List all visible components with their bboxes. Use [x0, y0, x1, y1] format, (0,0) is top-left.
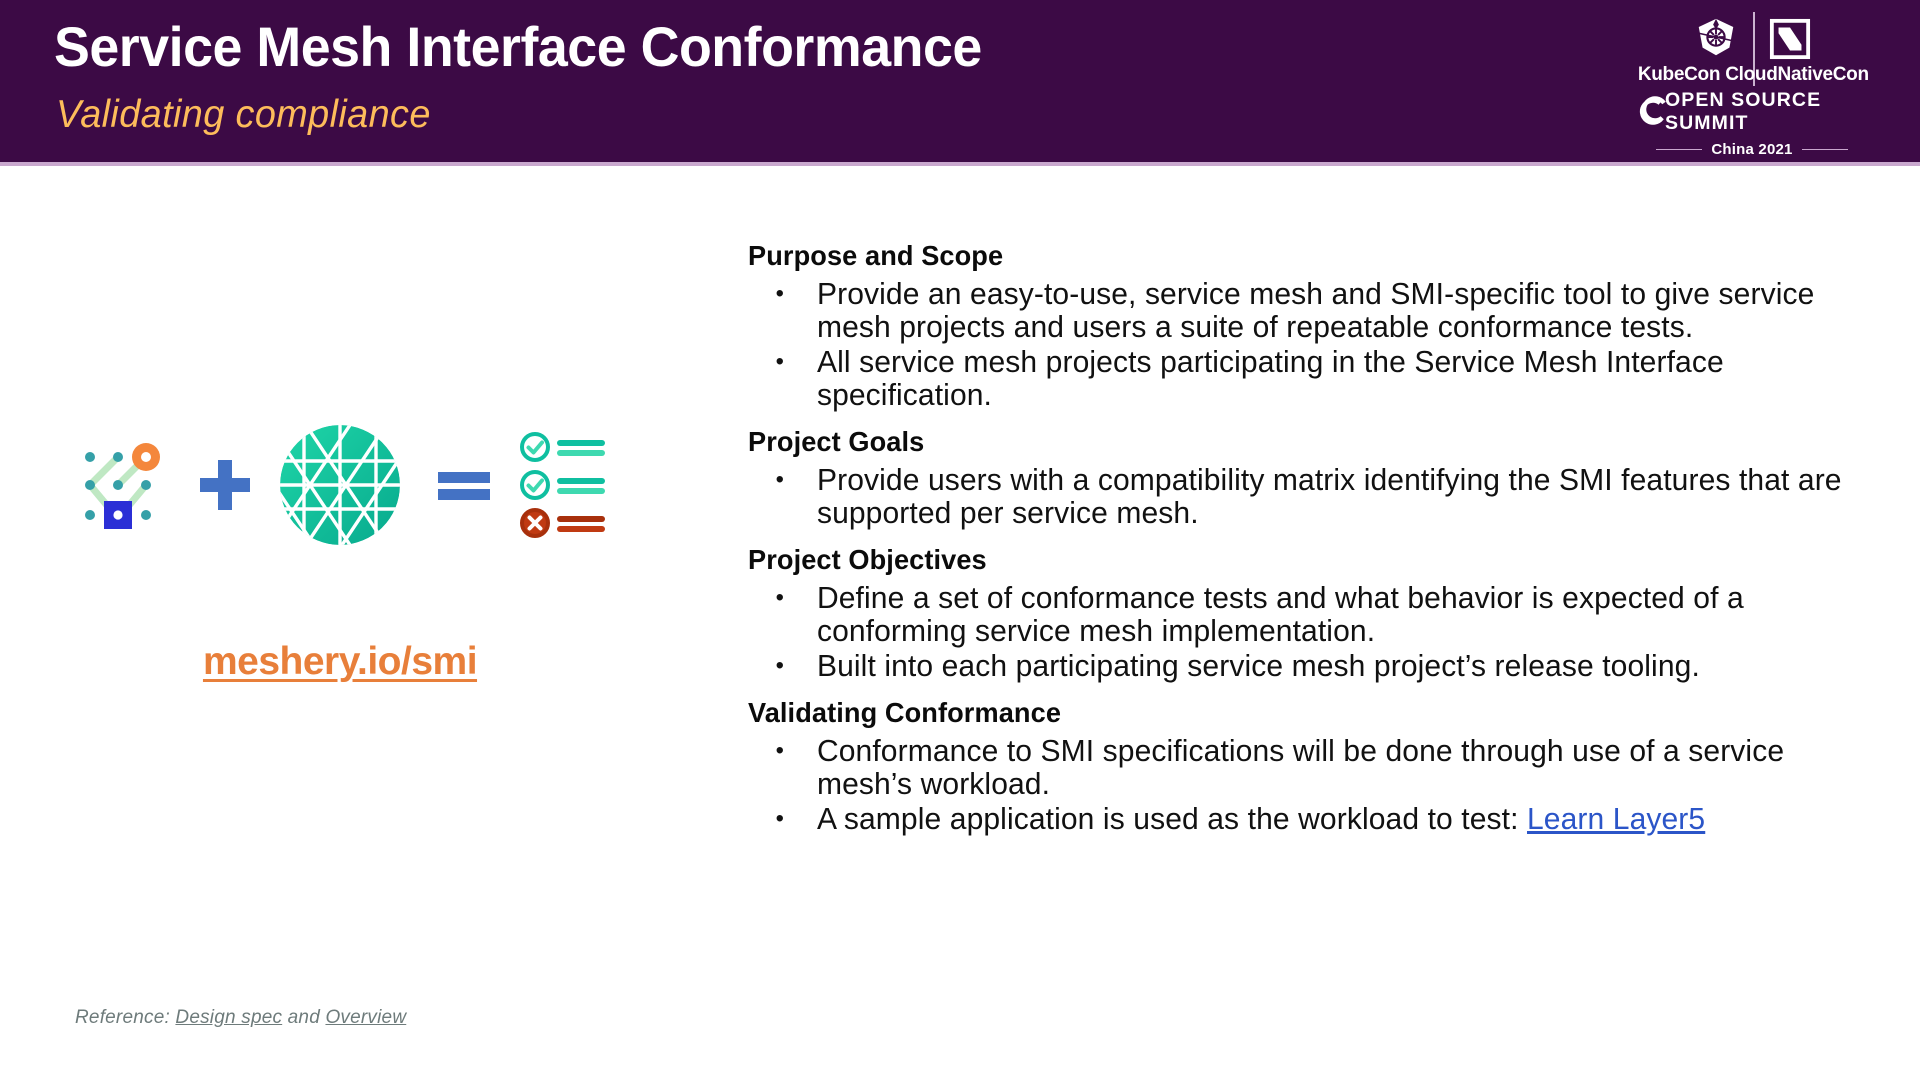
section-bullet-list: Define a set of conformance tests and wh… [748, 582, 1878, 683]
section-project-goals: Project Goals Provide users with a compa… [748, 426, 1878, 530]
section-heading: Purpose and Scope [748, 240, 1844, 272]
reference-conjunction: and [282, 1007, 325, 1028]
header-underline-rule [0, 162, 1920, 166]
design-spec-link[interactable]: Design spec [175, 1007, 282, 1028]
list-item: Define a set of conformance tests and wh… [748, 582, 1861, 648]
meshery-mesh-circle-icon [278, 423, 402, 547]
conference-logo: KubeCon CloudNativeCon OPEN SOURCE SUMMI… [1634, 10, 1870, 150]
page-subtitle: Validating compliance [56, 92, 431, 138]
list-item-text: A sample application is used as the work… [817, 802, 1527, 836]
conformance-equation-graphic [60, 410, 620, 560]
section-project-objectives: Project Objectives Define a set of confo… [748, 544, 1878, 683]
conference-year-label: China 2021 [1711, 141, 1792, 158]
section-validating-conformance: Validating Conformance Conformance to SM… [748, 697, 1878, 836]
section-bullet-list: Conformance to SMI specifications will b… [748, 735, 1878, 836]
meshery-smi-link[interactable]: meshery.io/smi [60, 640, 620, 684]
cloudnativecon-label: CloudNativeCon [1724, 64, 1870, 86]
section-heading: Project Goals [748, 426, 1844, 458]
page-title: Service Mesh Interface Conformance [54, 16, 982, 78]
section-bullet-list: Provide users with a compatibility matri… [748, 464, 1878, 530]
list-item: Built into each participating service me… [748, 650, 1861, 683]
list-item: Provide users with a compatibility matri… [748, 464, 1861, 530]
slide-body-content: Purpose and Scope Provide an easy-to-use… [748, 240, 1878, 850]
section-purpose-and-scope: Purpose and Scope Provide an easy-to-use… [748, 240, 1878, 412]
logo-rule-right [1802, 149, 1848, 151]
reference-prefix: Reference: [75, 1007, 175, 1028]
section-heading: Validating Conformance [748, 697, 1844, 729]
list-item: A sample application is used as the work… [748, 803, 1861, 836]
section-heading: Project Objectives [748, 544, 1844, 576]
list-item: All service mesh projects participating … [748, 346, 1861, 412]
overview-link[interactable]: Overview [325, 1007, 406, 1028]
learn-layer5-link[interactable]: Learn Layer5 [1527, 802, 1705, 836]
kubecon-label: KubeCon [1634, 64, 1724, 86]
smi-nodes-icon [60, 427, 176, 543]
plus-icon [194, 454, 256, 516]
open-source-summit-label: OPEN SOURCE SUMMIT [1665, 89, 1870, 135]
kubernetes-helm-icon [1693, 16, 1739, 62]
list-item: Conformance to SMI specifications will b… [748, 735, 1861, 801]
logo-rule-left [1656, 149, 1702, 151]
equals-icon [436, 457, 492, 513]
reference-footer: Reference: Design spec and Overview [75, 1007, 406, 1029]
section-bullet-list: Provide an easy-to-use, service mesh and… [748, 278, 1878, 412]
conformance-results-checklist-icon [518, 431, 608, 539]
list-item: Provide an easy-to-use, service mesh and… [748, 278, 1861, 344]
cloudnativecon-square-icon [1769, 18, 1811, 60]
